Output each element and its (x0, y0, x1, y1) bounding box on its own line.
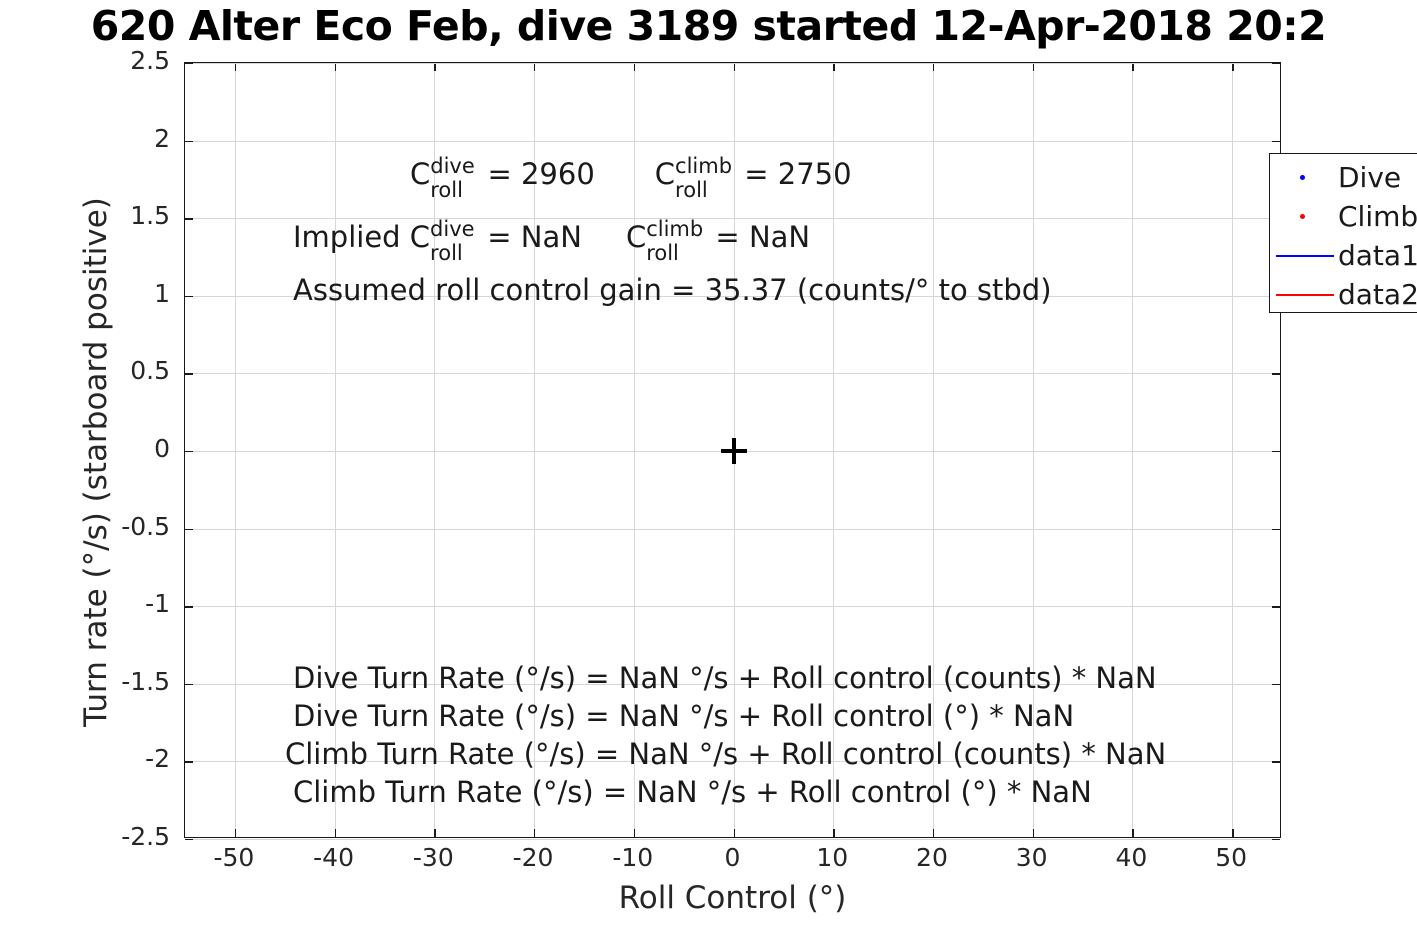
x-tick-label: -10 (588, 843, 678, 872)
c-roll-dive-superscript: dive (430, 154, 475, 178)
gridline-horizontal (185, 63, 1280, 64)
plot-area[interactable]: Cdiveroll = 2960Cclimbroll = 2750 Implie… (184, 62, 1281, 838)
y-axis-tick-right (1272, 684, 1280, 685)
legend-item-data2[interactable]: data2 (1270, 275, 1417, 314)
c-roll-dive-subscript: roll (430, 178, 463, 202)
y-axis-tick (185, 296, 193, 297)
y-axis-tick (185, 761, 193, 762)
legend-label: Dive (1338, 164, 1401, 192)
figure-container: 620 Alter Eco Feb, dive 3189 started 12-… (0, 0, 1417, 945)
implied-climb-symbol: C (626, 220, 646, 254)
gridline-vertical (1232, 63, 1233, 837)
legend-marker-line-icon (1276, 255, 1334, 257)
implied-dive-subscript: roll (430, 241, 463, 265)
x-axis-tick (335, 829, 336, 837)
gridline-horizontal (185, 373, 1280, 374)
gridline-horizontal (185, 218, 1280, 219)
implied-prefix: Implied C (293, 220, 430, 254)
x-axis-tick (534, 829, 535, 837)
legend-key-dot-icon (1270, 197, 1338, 236)
x-tick-label: -40 (289, 843, 379, 872)
c-roll-dive-symbol: C (410, 157, 430, 191)
annotation-roll-control-gain: Assumed roll control gain = 35.37 (count… (293, 273, 1052, 307)
y-axis-tick (185, 529, 193, 530)
origin-cross-marker (721, 438, 747, 464)
annotation-implied-c-roll: Implied Cdiveroll = NaNCclimbroll = NaN (293, 220, 810, 254)
x-axis-tick (235, 829, 236, 837)
annotation-climb-turn-rate-degrees: Climb Turn Rate (°/s) = NaN °/s + Roll c… (293, 775, 1092, 809)
c-roll-climb-symbol: C (655, 157, 675, 191)
y-axis-tick (185, 63, 193, 64)
gridline-horizontal (185, 529, 1280, 530)
y-axis-tick (185, 141, 193, 142)
x-axis-tick (434, 829, 435, 837)
y-axis-tick-right (1272, 529, 1280, 530)
legend-marker-dot-icon (1300, 214, 1305, 219)
legend-key-line-icon (1270, 275, 1338, 314)
legend-key-line-icon (1270, 236, 1338, 275)
y-axis-tick-right (1272, 373, 1280, 374)
x-axis-tick-top (1033, 63, 1034, 71)
x-axis-label: Roll Control (°) (184, 880, 1281, 916)
y-axis-tick-right (1272, 141, 1280, 142)
y-axis-tick (185, 218, 193, 219)
x-axis-tick (833, 829, 834, 837)
x-axis-tick-top (1132, 63, 1133, 71)
legend-label: data1 (1338, 242, 1417, 270)
x-axis-tick (634, 829, 635, 837)
x-tick-label: 30 (987, 843, 1077, 872)
x-axis-tick (1232, 829, 1233, 837)
gridline-vertical (235, 63, 236, 837)
implied-dive-superscript: dive (430, 217, 475, 241)
x-tick-label: 10 (787, 843, 877, 872)
x-axis-tick (734, 829, 735, 837)
y-axis-tick (185, 451, 193, 452)
implied-climb-superscript: climb (646, 217, 703, 241)
x-tick-label: -20 (488, 843, 578, 872)
x-tick-label: 0 (688, 843, 778, 872)
legend-item-dive[interactable]: Dive (1270, 158, 1417, 197)
x-axis-tick-top (933, 63, 934, 71)
c-roll-climb-subscript: roll (675, 178, 708, 202)
c-roll-dive-value: = 2960 (478, 157, 595, 191)
x-axis-tick (933, 829, 934, 837)
annotation-c-roll-values: Cdiveroll = 2960Cclimbroll = 2750 (410, 157, 852, 191)
legend-marker-line-icon (1276, 294, 1334, 296)
annotation-dive-turn-rate-degrees: Dive Turn Rate (°/s) = NaN °/s + Roll co… (293, 699, 1074, 733)
x-axis-tick-top (534, 63, 535, 71)
x-axis-tick-top (335, 63, 336, 71)
y-axis-tick-right (1272, 606, 1280, 607)
gridline-vertical (1132, 63, 1133, 837)
implied-dive-value: = NaN (478, 220, 582, 254)
x-axis-tick-top (235, 63, 236, 71)
annotation-dive-turn-rate-counts: Dive Turn Rate (°/s) = NaN °/s + Roll co… (293, 661, 1157, 695)
gridline-horizontal (185, 839, 1280, 840)
x-tick-label: -50 (189, 843, 279, 872)
x-tick-label: 50 (1186, 843, 1276, 872)
legend-label: Climb (1338, 203, 1417, 231)
legend[interactable]: DiveClimbdata1data2 (1269, 153, 1417, 313)
annotation-climb-turn-rate-counts: Climb Turn Rate (°/s) = NaN °/s + Roll c… (285, 737, 1166, 771)
implied-climb-value: = NaN (706, 220, 810, 254)
x-tick-label: 20 (887, 843, 977, 872)
y-axis-label: Turn rate (°/s) (starboard positive) (78, 72, 114, 852)
x-axis-tick-top (634, 63, 635, 71)
x-tick-label: -30 (388, 843, 478, 872)
y-axis-tick-right (1272, 761, 1280, 762)
x-axis-tick-top (734, 63, 735, 71)
y-axis-tick (185, 684, 193, 685)
page-title: 620 Alter Eco Feb, dive 3189 started 12-… (0, 0, 1417, 52)
y-tick-label: 2.5 (0, 46, 170, 75)
legend-marker-dot-icon (1300, 175, 1305, 180)
legend-key-dot-icon (1270, 158, 1338, 197)
y-axis-tick-right (1272, 451, 1280, 452)
y-axis-tick (185, 373, 193, 374)
y-axis-tick-right (1272, 839, 1280, 840)
x-axis-tick (1033, 829, 1034, 837)
y-axis-tick-right (1272, 63, 1280, 64)
x-axis-tick-top (434, 63, 435, 71)
y-axis-tick (185, 839, 193, 840)
gridline-horizontal (185, 141, 1280, 142)
x-axis-tick-top (1232, 63, 1233, 71)
x-axis-tick-top (833, 63, 834, 71)
y-axis-tick (185, 606, 193, 607)
x-tick-label: 40 (1086, 843, 1176, 872)
c-roll-climb-superscript: climb (675, 154, 732, 178)
legend-item-climb[interactable]: Climb (1270, 197, 1417, 236)
c-roll-climb-value: = 2750 (735, 157, 852, 191)
implied-climb-subscript: roll (646, 241, 679, 265)
legend-label: data2 (1338, 281, 1417, 309)
legend-item-data1[interactable]: data1 (1270, 236, 1417, 275)
x-axis-tick (1132, 829, 1133, 837)
gridline-horizontal (185, 606, 1280, 607)
